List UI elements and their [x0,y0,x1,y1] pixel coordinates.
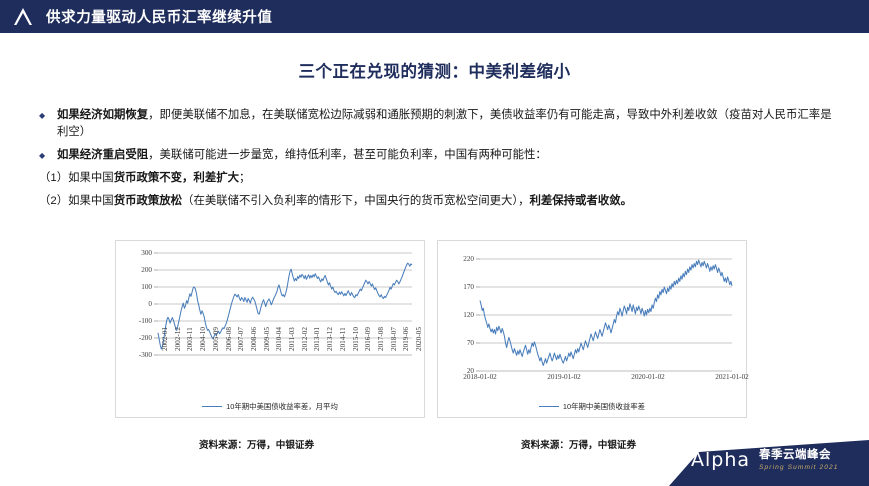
bullet-diamond-icon: ◆ [35,147,57,164]
x-tick-label: 2020-05 [415,327,423,351]
x-tick-label: 2013-01 [313,327,321,351]
y-tick-label: 120 [444,311,474,319]
x-tick-label: 2014-11 [339,327,347,351]
triangle-mountain-icon [13,7,33,26]
x-tick-label: 2019-01-02 [542,373,586,381]
body-text-block: ◆ 如果经济如期恢复，即便美联储不加息，在美联储宽松边际减弱和通胀预期的刺激下，… [35,107,835,216]
bullet-diamond-icon: ◆ [35,107,57,124]
x-tick-label: 2017-08 [377,327,385,351]
bullet-2-rest: ，美联储可能进一步量宽，维持低利率，甚至可能负利率，中国有两种可能性： [148,149,547,161]
event-logo-content: Alpha 春季云端峰会 Spring Summit 2021 [691,449,839,472]
y-tick-label: 70 [444,339,474,347]
legend-label: 10年期中美国债收益率差 [563,401,645,412]
x-tick-label: 2006-08 [225,327,233,351]
bullet-1-bold-lead: 如果经济如期恢复 [57,109,148,121]
y-tick-label: -100 [122,317,152,325]
bullet-item-1: ◆ 如果经济如期恢复，即便美联储不加息，在美联储宽松边际减弱和通胀预期的刺激下，… [35,107,835,141]
bullet-1-rest: ，即便美联储不加息，在美联储宽松边际减弱和通胀预期的刺激下，美债收益率仍有可能走… [57,109,832,138]
x-tick-label: 2011-03 [288,327,296,351]
x-tick-label: 2005-09 [212,327,220,351]
x-tick-label: 2015-10 [352,327,360,351]
numbered-2-bold: 货币政策放松 [114,195,182,207]
y-tick-label: 100 [122,283,152,291]
numbered-item-1: （1）如果中国货币政策不变，利差扩大； [35,170,835,187]
header-title: 供求力量驱动人民币汇率继续升值 [46,6,273,27]
numbered-item-2: （2）如果中国货币政策放松（在美联储不引入负利率的情形下，中国央行的货币宽松空间… [35,193,835,210]
numbered-2-bold-end: 利差保持或者收敛。 [529,195,632,207]
x-tick-label: 2008-06 [250,327,258,351]
brand-logo [0,0,46,33]
x-tick-label: 2002-12 [174,327,182,351]
x-tick-label: 2012-02 [301,327,309,351]
header-bar: 供求力量驱动人民币汇率继续升值 [0,0,869,33]
plot-right-svg [438,241,746,417]
legend-label: 10年期中美国债收益率差，月平均 [226,401,338,412]
x-tick-label: 2002-01 [161,327,169,351]
event-logo-text-block: 春季云端峰会 Spring Summit 2021 [759,449,839,472]
series-line [158,263,412,349]
x-tick-label: 2019-06 [402,327,410,351]
y-tick-label: -200 [122,334,152,342]
source-caption-right: 资料来源：万得，中银证券 [521,437,636,451]
numbered-1-prefix: （1）如果中国 [39,172,114,184]
y-tick-label: 220 [444,255,474,263]
alpha-wordmark: Alpha [691,451,750,470]
right-chart-plot-area: 20701201702202018-01-022019-01-022020-01… [438,241,746,417]
page-title: 三个正在兑现的猜测：中美利差缩小 [0,58,869,82]
bullet-2-bold-lead: 如果经济重启受阻 [57,149,148,161]
numbered-1-bold: 货币政策不变，利差扩大 [114,172,239,184]
y-tick-label: 0 [122,300,152,308]
right-chart-legend: 10年期中美国债收益率差 [438,401,746,412]
x-tick-label: 2018-01-02 [458,373,502,381]
x-tick-label: 2003-11 [186,327,194,351]
x-tick-label: 2004-10 [199,327,207,351]
left-chart-legend: 10年期中美国债收益率差，月平均 [116,401,424,412]
x-tick-label: 2010-04 [275,327,283,351]
event-logo: Alpha 春季云端峰会 Spring Summit 2021 [669,440,869,486]
x-tick-label: 2007-07 [237,327,245,351]
y-tick-label: 170 [444,283,474,291]
left-chart-plot-area: -300-200-10001002003002002-012002-122003… [116,241,424,417]
series-line [480,260,732,365]
legend-line-swatch [539,406,559,407]
x-tick-label: 2013-12 [326,327,334,351]
bullet-item-2: ◆ 如果经济重启受阻，美联储可能进一步量宽，维持低利率，甚至可能负利率，中国有两… [35,147,835,164]
numbered-1-suffix: ； [239,172,250,184]
event-name-en: Spring Summit 2021 [759,463,839,472]
x-tick-label: 2021-01-02 [710,373,754,381]
source-caption-left: 资料来源：万得，中银证券 [199,437,314,451]
x-tick-label: 2018-07 [390,327,398,351]
x-tick-label: 2016-09 [364,327,372,351]
x-tick-label: 2020-01-02 [626,373,670,381]
y-tick-label: -300 [122,351,152,359]
chart-panel-left: -300-200-10001002003002002-012002-122003… [115,240,425,418]
bullet-item-1-text: 如果经济如期恢复，即便美联储不加息，在美联储宽松边际减弱和通胀预期的刺激下，美债… [57,107,835,141]
numbered-2-prefix: （2）如果中国 [39,195,114,207]
x-tick-label: 2009-05 [263,327,271,351]
y-tick-label: 300 [122,249,152,257]
legend-line-swatch [202,406,222,407]
y-tick-label: 200 [122,266,152,274]
event-name-cn: 春季云端峰会 [759,449,839,462]
bullet-item-2-text: 如果经济重启受阻，美联储可能进一步量宽，维持低利率，甚至可能负利率，中国有两种可… [57,147,835,164]
numbered-2-mid: （在美联储不引入负利率的情形下，中国央行的货币宽松空间更大）， [182,195,529,207]
chart-panel-right: 20701201702202018-01-022019-01-022020-01… [437,240,747,418]
